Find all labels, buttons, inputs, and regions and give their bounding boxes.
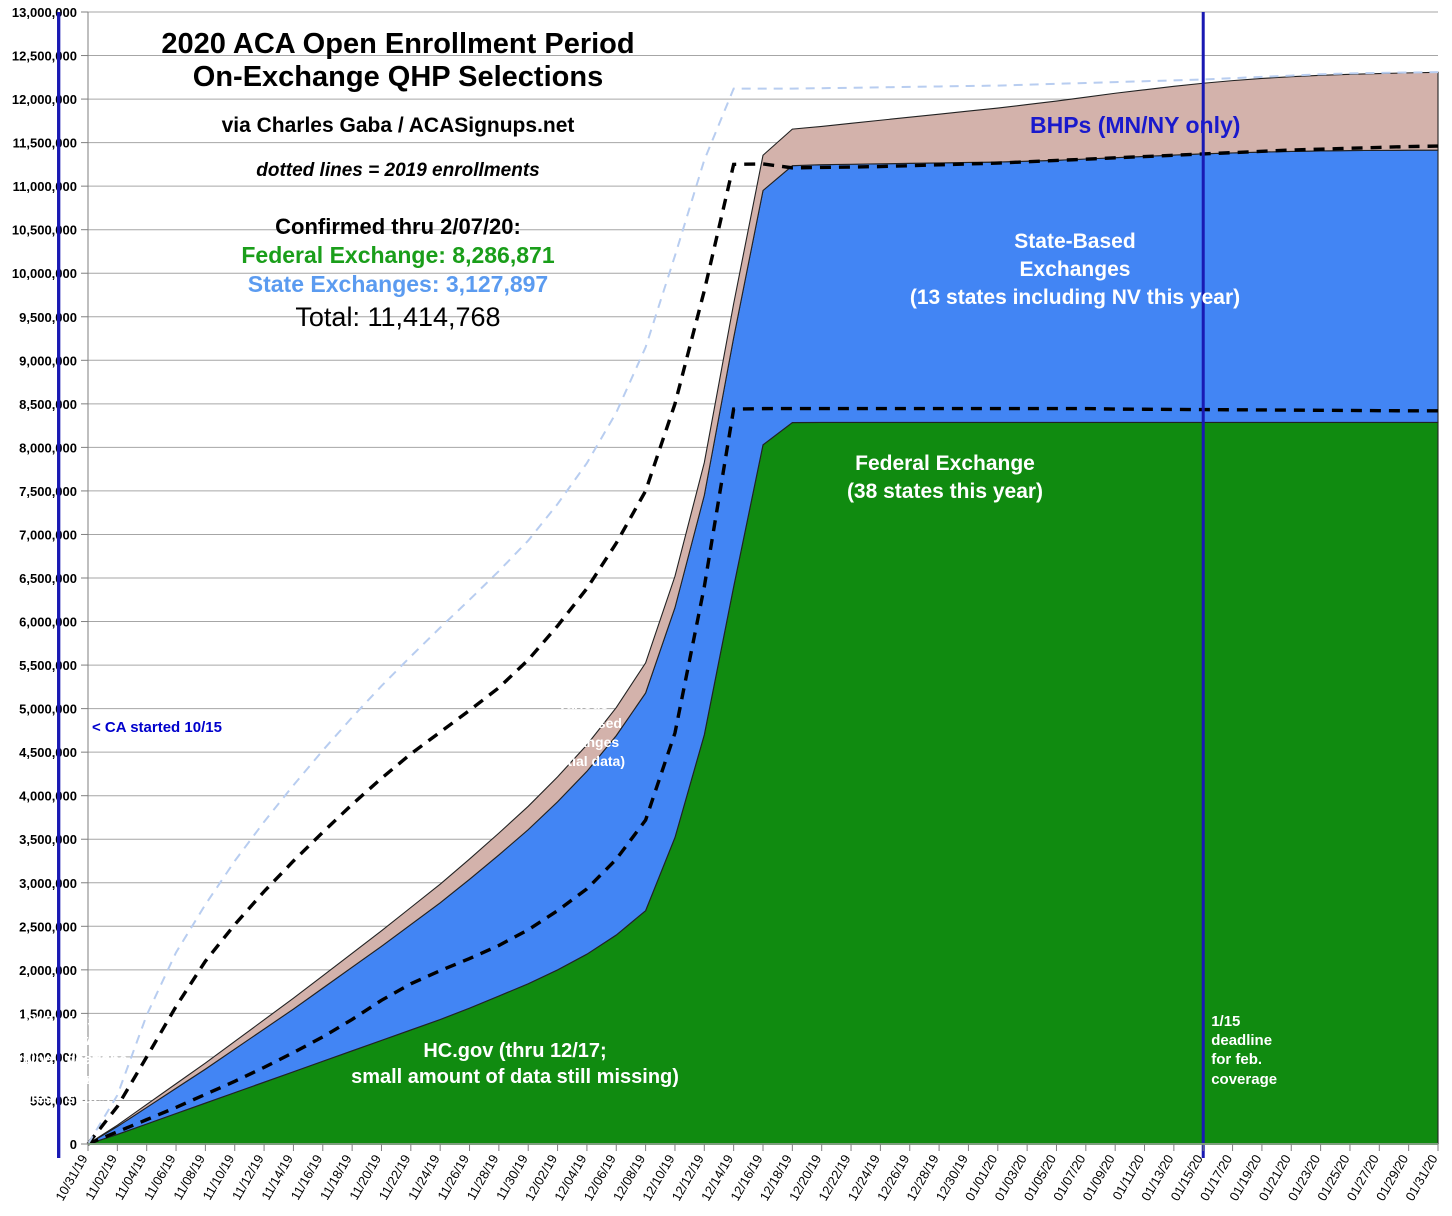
y-axis-label: 6,500,000 — [19, 571, 77, 586]
y-axis-label: 1,500,000 — [19, 1006, 77, 1021]
y-axis-label: 5,000,000 — [19, 702, 77, 717]
y-axis-label: 12,500,000 — [12, 49, 77, 64]
x-axis-labels: 10/31/1911/02/1911/04/1911/06/1911/08/19… — [52, 1144, 1440, 1203]
y-axis-label: 0 — [70, 1137, 77, 1152]
y-axis-label: 5,500,000 — [19, 658, 77, 673]
y-axis-label: 11,000,000 — [13, 179, 77, 194]
y-axis-label: 8,000,000 — [19, 440, 77, 455]
y-axis-label: 8,500,000 — [19, 397, 77, 412]
y-axis-label: 500,000 — [30, 1093, 77, 1108]
y-axis-label: 1,000,000 — [19, 1050, 77, 1065]
y-axis-label: 13,000,000 — [12, 5, 77, 20]
y-axis-label: 6,000,000 — [19, 615, 77, 630]
y-axis-label: 12,000,000 — [12, 92, 77, 107]
y-axis-label: 7,000,000 — [19, 527, 77, 542]
y-axis-label: 11,500,000 — [13, 136, 77, 151]
y-axis-label: 4,500,000 — [19, 745, 77, 760]
enrollment-area-chart: 0500,0001,000,0001,500,0002,000,0002,500… — [0, 0, 1452, 1216]
y-axis-label: 3,000,000 — [19, 876, 77, 891]
y-axis-label: 2,500,000 — [19, 919, 77, 934]
y-axis-label: 3,500,000 — [19, 832, 77, 847]
y-axis-label: 2,000,000 — [19, 963, 77, 978]
y-axis-label: 10,000,000 — [12, 266, 77, 281]
y-axis-label: 7,500,000 — [19, 484, 77, 499]
chart-root: 0500,0001,000,0001,500,0002,000,0002,500… — [0, 0, 1452, 1216]
y-axis-label: 4,000,000 — [19, 789, 77, 804]
y-axis-label: 9,500,000 — [19, 310, 77, 325]
y-axis-label: 9,000,000 — [19, 353, 77, 368]
y-axis-label: 10,500,000 — [12, 223, 77, 238]
